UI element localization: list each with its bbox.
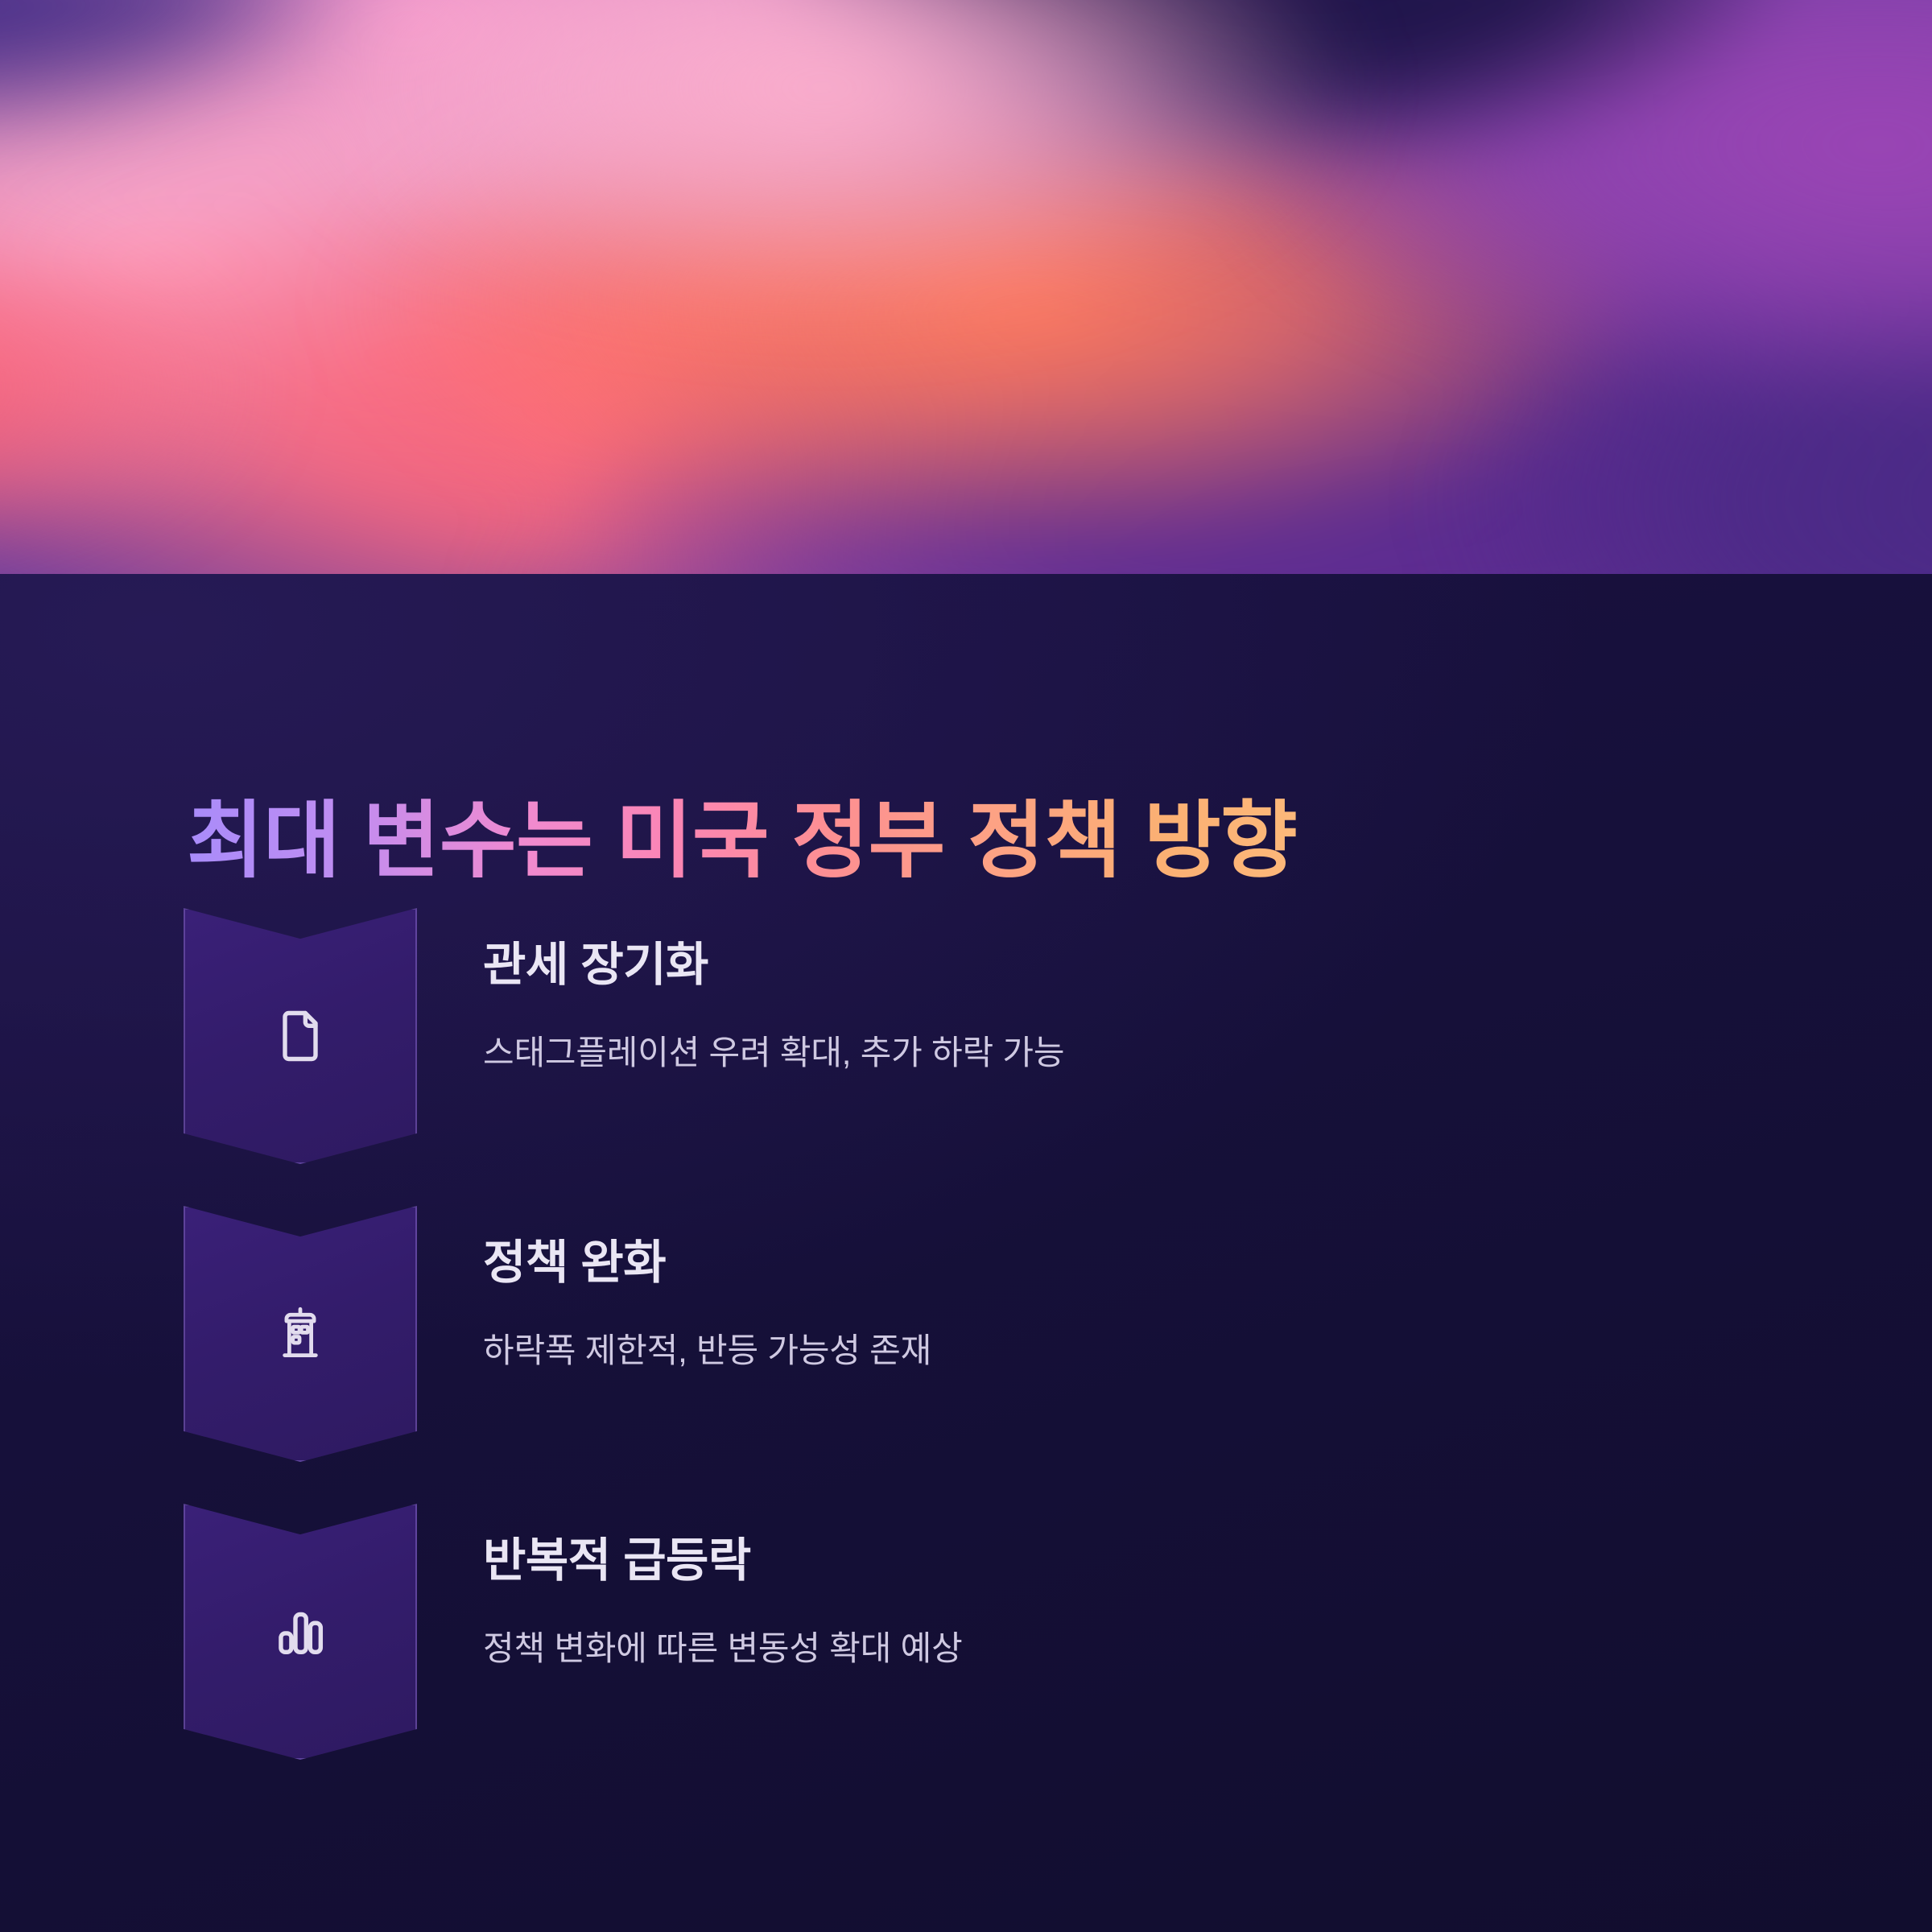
feature-badge-2 (184, 1206, 417, 1462)
government-building-icon (270, 1303, 331, 1364)
hero-banner (0, 0, 1932, 574)
list-item: 관세 장기화 스태그플레이션 우려 확대, 추가 하락 가능 (0, 908, 1932, 1206)
feature-text-3: 반복적 급등락 정책 변화에 따른 변동성 확대 예상 (483, 1533, 1690, 1671)
bar-chart-icon (270, 1601, 331, 1662)
feature-title: 반복적 급등락 (483, 1533, 1690, 1589)
feature-description: 정책 변화에 따른 변동성 확대 예상 (483, 1626, 1690, 1672)
list-item: 정책 완화 하락폭 제한적, 반등 가능성 존재 (0, 1206, 1932, 1504)
feature-text-1: 관세 장기화 스태그플레이션 우려 확대, 추가 하락 가능 (483, 937, 1690, 1075)
feature-title: 관세 장기화 (483, 937, 1690, 993)
feature-text-2: 정책 완화 하락폭 제한적, 반등 가능성 존재 (483, 1235, 1690, 1373)
feature-badge-3 (184, 1504, 417, 1760)
feature-description: 하락폭 제한적, 반등 가능성 존재 (483, 1328, 1690, 1374)
feature-title: 정책 완화 (483, 1235, 1690, 1291)
list-item: 반복적 급등락 정책 변화에 따른 변동성 확대 예상 (0, 1504, 1932, 1802)
infographic-card: 최대 변수는 미국 정부 정책 방향 관세 장기화 스태그플레이션 우려 확대,… (0, 0, 1932, 1932)
feature-description: 스태그플레이션 우려 확대, 추가 하락 가능 (483, 1030, 1690, 1076)
document-icon (270, 1005, 331, 1067)
page-title: 최대 변수는 미국 정부 정책 방향 (187, 789, 1297, 894)
feature-badge-1 (184, 908, 417, 1164)
feature-list: 관세 장기화 스태그플레이션 우려 확대, 추가 하락 가능 (0, 908, 1932, 1802)
hero-mesh-layer-d (0, 0, 1932, 574)
